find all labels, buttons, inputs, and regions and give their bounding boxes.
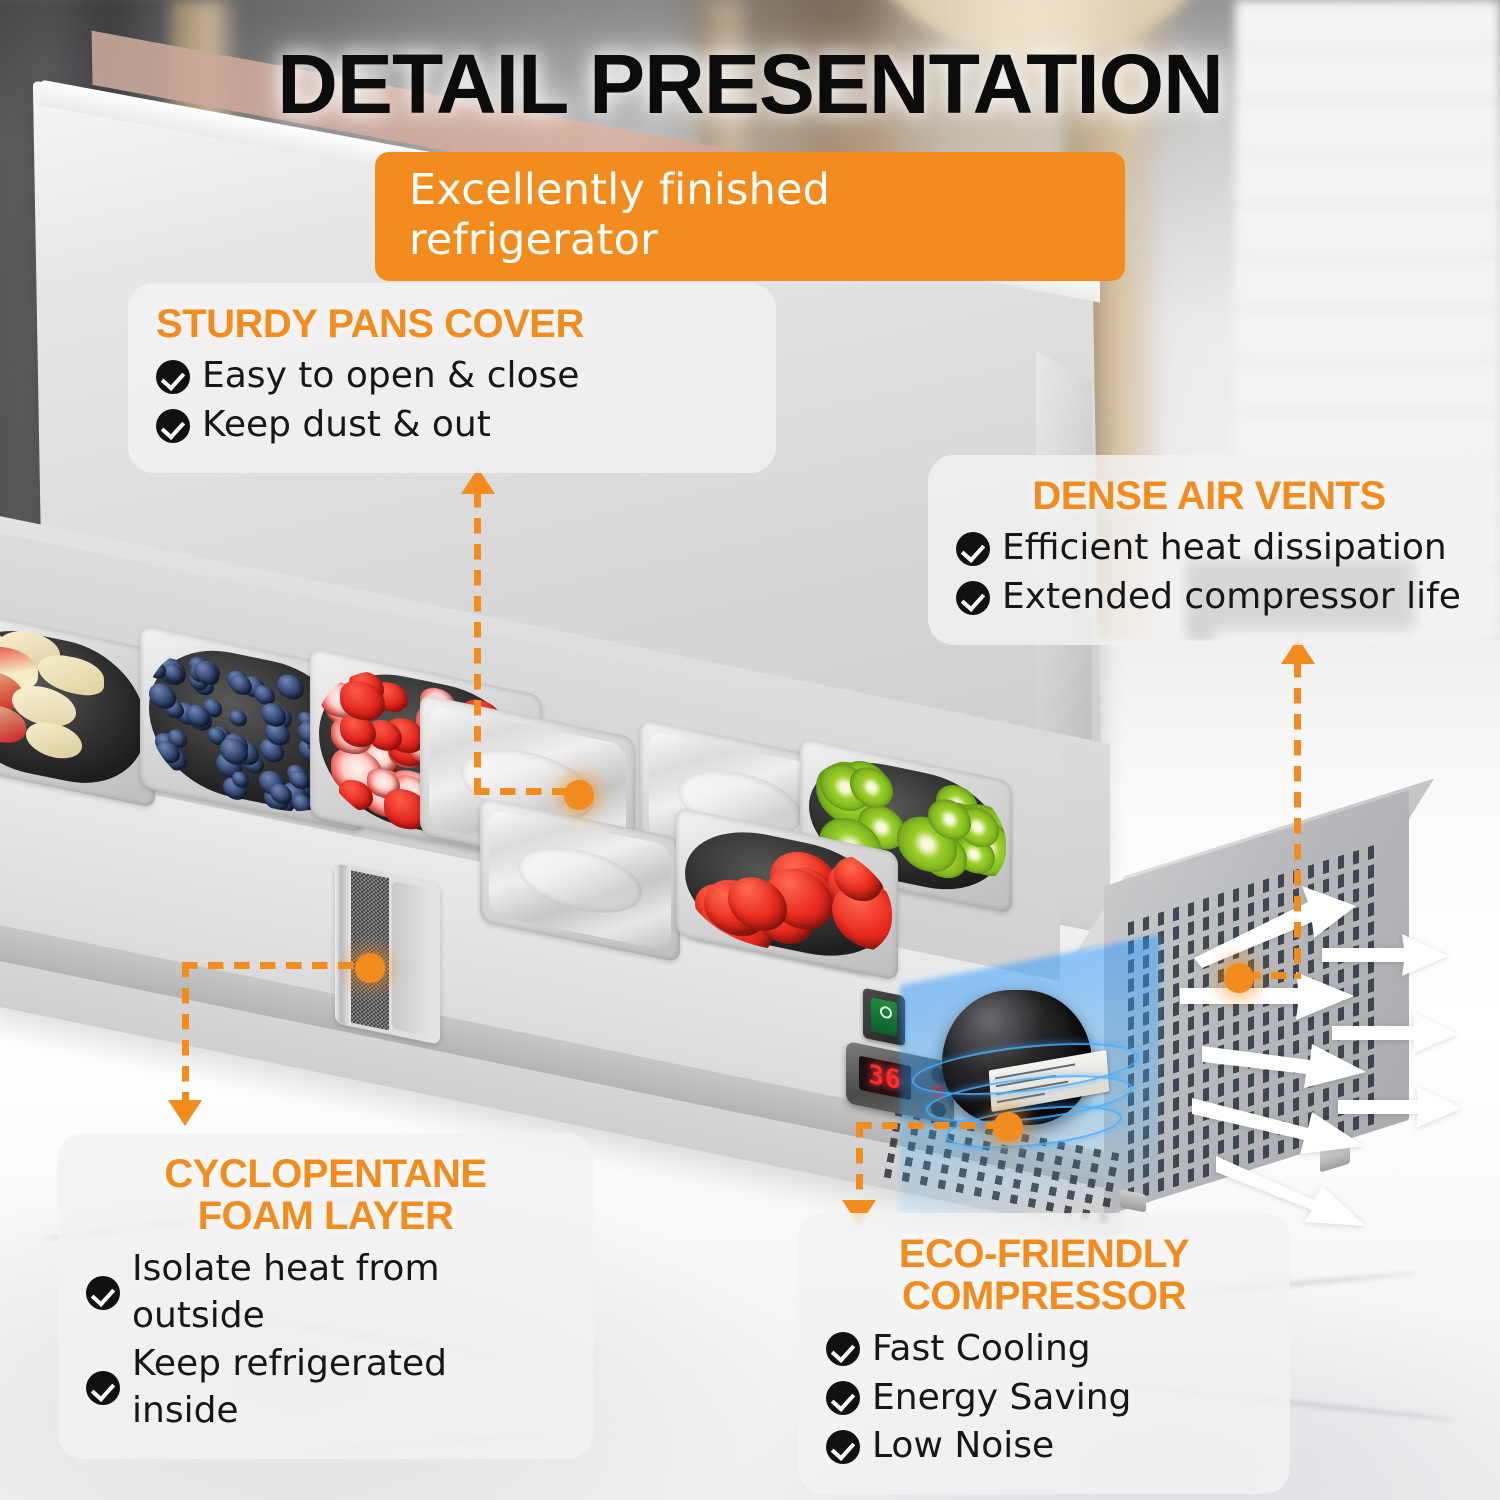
callout-sturdy-pans-cover: STURDY PANS COVER Easy to open & close K… — [128, 283, 776, 473]
foam-layer-cutaway — [335, 863, 440, 1045]
infographic-canvas: 36 — [0, 0, 1500, 1500]
check-circle-icon — [156, 409, 190, 443]
callout-bullet-text: Isolate heat from outside — [132, 1246, 565, 1340]
check-circle-icon — [956, 532, 990, 566]
inner-liner-skin — [392, 881, 430, 1037]
check-circle-icon — [826, 1381, 860, 1415]
connector-line-compressor — [856, 1122, 1008, 1129]
callout-bullet-text: Low Noise — [872, 1423, 1054, 1470]
callout-title: CYCLOPENTANE FOAM LAYER — [86, 1153, 565, 1238]
connector-line-foam — [182, 962, 367, 969]
check-circle-icon — [826, 1332, 860, 1366]
check-circle-icon — [956, 581, 990, 615]
callout-eco-friendly-compressor: ECO-FRIENDLY COMPRESSOR Fast Cooling Ene… — [798, 1213, 1290, 1494]
connector-line-compressor — [856, 1122, 863, 1206]
callout-title-line1: CYCLOPENTANE — [164, 1152, 486, 1196]
callout-title-line2: COMPRESSOR — [902, 1274, 1186, 1318]
callout-bullet-text: Energy Saving — [872, 1375, 1131, 1422]
check-circle-icon — [826, 1430, 860, 1464]
connector-line-foam — [182, 962, 189, 1104]
connector-line-air-vents — [1294, 662, 1301, 978]
callout-title-line1: ECO-FRIENDLY — [899, 1232, 1189, 1276]
hotspot-dot-air-vents — [1224, 963, 1254, 993]
page-subtitle-badge: Excellently finished refrigerator — [375, 152, 1125, 281]
callout-bullet: Isolate heat from outside — [86, 1246, 565, 1340]
callout-bullet: Extended compressor life — [956, 574, 1462, 621]
callout-bullet: Keep refrigerated inside — [86, 1341, 565, 1435]
callout-bullet-text: Keep dust & out — [202, 402, 491, 449]
callout-bullet: Energy Saving — [826, 1375, 1262, 1422]
power-switch-rocker — [871, 997, 897, 1036]
callout-bullet-text: Keep refrigerated inside — [132, 1341, 565, 1435]
callout-bullet-text: Efficient heat dissipation — [1002, 525, 1447, 572]
cyclopentane-foam-core — [345, 869, 389, 1030]
callout-bullet: Easy to open & close — [156, 353, 748, 400]
arrow-down-icon — [168, 1100, 202, 1126]
callout-title: STURDY PANS COVER — [156, 303, 748, 345]
airflow-arrow-icon — [1330, 1008, 1460, 1058]
hotspot-dot-compressor — [993, 1112, 1023, 1142]
callout-bullet: Low Noise — [826, 1423, 1262, 1470]
callout-title: ECO-FRIENDLY COMPRESSOR — [826, 1233, 1262, 1318]
power-switch[interactable] — [863, 988, 905, 1047]
airflow-arrow-icon — [1320, 930, 1450, 980]
callout-cyclopentane-foam-layer: CYCLOPENTANE FOAM LAYER Isolate heat fro… — [58, 1133, 593, 1459]
callout-dense-air-vents: DENSE AIR VENTS Efficient heat dissipati… — [928, 455, 1490, 645]
callout-bullet: Keep dust & out — [156, 402, 748, 449]
check-circle-icon — [156, 360, 190, 394]
check-circle-icon — [86, 1276, 120, 1310]
callout-bullet: Efficient heat dissipation — [956, 525, 1462, 572]
thermostat-value: 36 — [868, 1060, 901, 1097]
callout-title-line2: FOAM LAYER — [198, 1194, 454, 1238]
check-circle-icon — [86, 1371, 120, 1405]
hotspot-dot-pans-cover — [564, 780, 594, 810]
callout-bullet-text: Extended compressor life — [1002, 574, 1461, 621]
callout-bullet-text: Easy to open & close — [202, 353, 579, 400]
callout-title: DENSE AIR VENTS — [956, 475, 1462, 517]
callout-bullet-text: Fast Cooling — [872, 1326, 1091, 1373]
airflow-arrow-icon — [1336, 1082, 1464, 1132]
connector-line-pans-cover — [474, 492, 481, 792]
page-title: DETAIL PRESENTATION — [0, 36, 1500, 133]
callout-bullet: Fast Cooling — [826, 1326, 1262, 1373]
hotspot-dot-foam — [355, 953, 385, 983]
stainless-outer-skin — [335, 863, 351, 1030]
